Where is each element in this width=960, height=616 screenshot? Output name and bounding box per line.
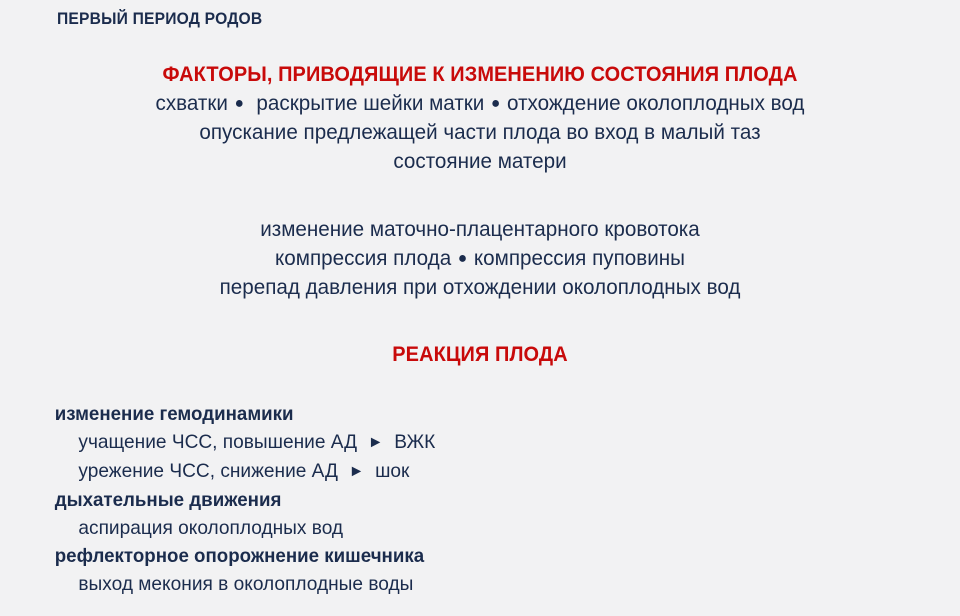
factors-line-1: схватки●раскрытие шейки матки●отхождение…: [19, 89, 941, 118]
factors-line1-part2: раскрытие шейки матки: [256, 91, 484, 115]
bullet-icon: ●: [457, 250, 468, 267]
list-item-text: учащение ЧСС, повышение АД: [78, 431, 357, 453]
factors-section: ФАКТОРЫ, ПРИВОДЯЩИЕ К ИЗМЕНЕНИЮ СОСТОЯНИ…: [0, 60, 960, 176]
factors-line1-part3: отхождение околоплодных вод: [507, 91, 804, 115]
list-head-bowel: рефлекторное опорожнение кишечника: [0, 542, 922, 570]
list-item: аспирация околоплодных вод: [0, 514, 941, 542]
mechanism-line-1: изменение маточно-плацентарного кровоток…: [19, 215, 941, 244]
reaction-section: РЕАКЦИЯ ПЛОДА: [0, 340, 960, 369]
list-item-result: ВЖК: [394, 431, 435, 453]
bullet-icon: ●: [490, 95, 501, 112]
list-head-respiratory: дыхательные движения: [0, 486, 922, 514]
list-item: выход мекония в околоплодные воды: [0, 570, 941, 598]
mechanism-line2-part2: компрессия пуповины: [474, 246, 685, 270]
page-title: ПЕРВЫЙ ПЕРИОД РОДОВ: [57, 9, 262, 29]
list-head-hemodynamics: изменение гемодинамики: [0, 400, 922, 428]
factors-line1-part1: схватки: [156, 91, 228, 115]
reaction-list: изменение гемодинамики учащение ЧСС, пов…: [0, 400, 960, 598]
reaction-heading: РЕАКЦИЯ ПЛОДА: [24, 340, 936, 369]
slide-canvas: ПЕРВЫЙ ПЕРИОД РОДОВ ФАКТОРЫ, ПРИВОДЯЩИЕ …: [0, 0, 960, 616]
mechanism-line2-part1: компрессия плода: [275, 246, 451, 270]
arrow-right-icon: ►: [344, 463, 369, 480]
arrow-right-icon: ►: [363, 434, 388, 451]
list-item: учащение ЧСС, повышение АД►ВЖК: [0, 428, 941, 457]
list-item-text: аспирация околоплодных вод: [78, 517, 343, 539]
factors-heading: ФАКТОРЫ, ПРИВОДЯЩИЕ К ИЗМЕНЕНИЮ СОСТОЯНИ…: [24, 60, 936, 89]
list-item-result: шок: [375, 460, 409, 482]
mechanism-line-2: компрессия плода●компрессия пуповины: [19, 244, 941, 273]
mechanism-section: изменение маточно-плацентарного кровоток…: [0, 215, 960, 302]
factors-line-2: опускание предлежащей части плода во вхо…: [19, 118, 941, 147]
list-item: урежение ЧСС, снижение АД►шок: [0, 457, 941, 486]
bullet-icon: ●: [234, 95, 245, 112]
mechanism-line-3: перепад давления при отхождении околопло…: [19, 273, 941, 302]
list-item-text: урежение ЧСС, снижение АД: [78, 460, 338, 482]
factors-line-3: состояние матери: [19, 147, 941, 176]
list-item-text: выход мекония в околоплодные воды: [78, 573, 413, 595]
